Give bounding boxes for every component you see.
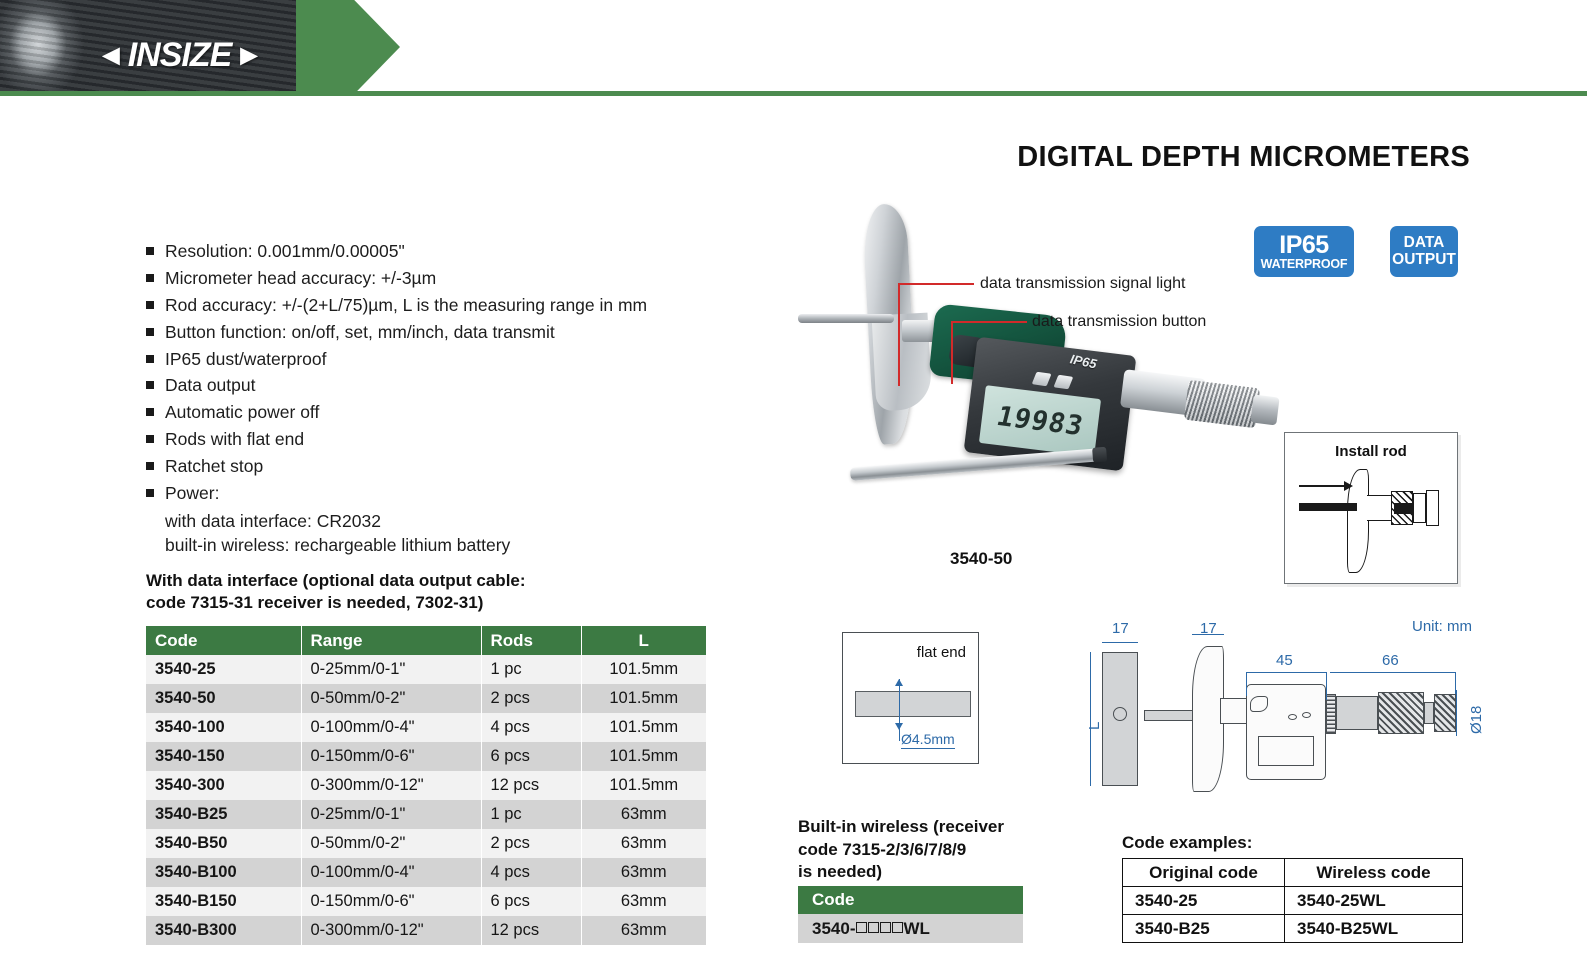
ip65-badge-line1: IP65: [1279, 232, 1328, 258]
main-table-caption: With data interface (optional data outpu…: [146, 570, 706, 615]
install-direction-arrow-icon: [1299, 485, 1345, 487]
install-rod-neck: [1367, 495, 1393, 521]
product-photo: IP65 19983: [782, 196, 1282, 486]
dim-vertical-line: [1090, 652, 1091, 786]
cell-original-code: 3540-B25: [1123, 915, 1285, 943]
spec-text: Micrometer head accuracy: +/-3µm: [165, 267, 436, 289]
spec-subitem: with data interface: CR2032: [165, 509, 766, 534]
code-examples-table: Original code Wireless code 3540-253540-…: [1122, 858, 1463, 943]
drawing-neck-ring: [1424, 702, 1434, 724]
wireless-header-row: Code: [798, 886, 1023, 914]
dimension-drawing: Unit: mm 17 L 17 45 66: [1034, 612, 1474, 787]
table-row: 3540-B250-25mm/0-1"1 pc63mm: [146, 800, 706, 829]
cell-code: 3540-B300: [146, 916, 301, 945]
cell-rods: 1 pc: [481, 655, 581, 684]
wireless-code-suffix: WL: [903, 919, 929, 938]
table-row: 3540-250-25mm/0-1"1 pc101.5mm: [146, 655, 706, 684]
table-header-row: Code Range Rods L: [146, 626, 706, 655]
wireless-caption: Built-in wireless (receiver code 7315-2/…: [798, 816, 1058, 884]
wireless-caption-line2: code 7315-2/3/6/7/8/9: [798, 839, 1058, 862]
drawing-lcd: [1258, 736, 1314, 766]
cell-length: 63mm: [581, 916, 706, 945]
cell-length: 101.5mm: [581, 771, 706, 800]
transmission-button-callout: data transmission button: [1032, 313, 1206, 331]
cell-range: 0-150mm/0-6": [301, 887, 481, 916]
cell-range: 0-50mm/0-2": [301, 829, 481, 858]
table-row: 3540-B500-50mm/0-2"2 pcs63mm: [146, 829, 706, 858]
bullet-square-icon: [146, 328, 154, 336]
cell-rods: 6 pcs: [481, 742, 581, 771]
spec-text: Automatic power off: [165, 401, 319, 423]
cell-rods: 4 pcs: [481, 713, 581, 742]
spec-text: Resolution: 0.001mm/0.00005": [165, 240, 405, 262]
install-rod-bar: [1299, 503, 1357, 511]
side-view-hole: [1113, 707, 1127, 721]
micrometer-thimble[interactable]: [1184, 380, 1260, 428]
cell-range: 0-300mm/0-12": [301, 916, 481, 945]
cell-rods: 2 pcs: [481, 684, 581, 713]
table-row: 3540-1500-150mm/0-6"6 pcs101.5mm: [146, 742, 706, 771]
cell-code: 3540-150: [146, 742, 301, 771]
column-header-wireless-code: Wireless code: [1285, 859, 1463, 887]
cross-rod: [798, 314, 894, 323]
ratchet-stop[interactable]: [1250, 395, 1279, 426]
cell-rods: 1 pc: [481, 800, 581, 829]
cell-code: 3540-B100: [146, 858, 301, 887]
drawing-barrel-knurl: [1326, 694, 1336, 734]
dim-base-width-label: 17: [1112, 620, 1129, 637]
drawing-barrel: [1336, 696, 1378, 730]
dim-vertical-line: [1456, 690, 1457, 736]
dim-66-label: 66: [1382, 652, 1399, 669]
column-header-code: Code: [146, 626, 301, 655]
cell-length: 63mm: [581, 887, 706, 916]
dim-line-45: [1246, 672, 1327, 673]
spec-item: Button function: on/off, set, mm/inch, d…: [146, 321, 766, 343]
dim-tick: [1326, 672, 1327, 700]
cell-range: 0-25mm/0-1": [301, 655, 481, 684]
code-examples-header-row: Original code Wireless code: [1123, 859, 1463, 887]
drawing-ratchet: [1434, 694, 1456, 732]
dim-L-label: L: [1086, 722, 1103, 730]
dimension-arrow-icon: [895, 679, 903, 686]
cell-range: 0-300mm/0-12": [301, 771, 481, 800]
data-badge-line1: DATA: [1404, 235, 1445, 251]
callout-leader-vertical: [898, 283, 900, 386]
cell-range: 0-150mm/0-6": [301, 742, 481, 771]
cell-range: 0-50mm/0-2": [301, 684, 481, 713]
cell-length: 63mm: [581, 800, 706, 829]
cell-range: 0-25mm/0-1": [301, 800, 481, 829]
bullet-square-icon: [146, 381, 154, 389]
cell-wireless-code: 3540-B25WL: [1285, 915, 1463, 943]
column-header-l: L: [581, 626, 706, 655]
main-table-caption-line2: code 7315-31 receiver is needed, 7302-31…: [146, 592, 706, 614]
cell-code: 3540-300: [146, 771, 301, 800]
drawing-rod: [1144, 710, 1196, 721]
code-examples-row: 3540-B253540-B25WL: [1123, 915, 1463, 943]
table-row: 3540-3000-300mm/0-12"12 pcs101.5mm: [146, 771, 706, 800]
callout-leader-horizontal: [898, 283, 974, 285]
spec-text: Rod accuracy: +/-(2+L/75)µm, L is the me…: [165, 294, 647, 316]
product-model-label: 3540-50: [950, 549, 1012, 569]
spec-text: Rods with flat end: [165, 428, 304, 450]
logo-text: INSIZE: [128, 36, 232, 75]
table-row: 3540-500-50mm/0-2"2 pcs101.5mm: [146, 684, 706, 713]
callout-leader-horizontal: [951, 321, 1027, 323]
bullet-square-icon: [146, 489, 154, 497]
drawing-neck: [1220, 698, 1248, 724]
wireless-caption-line1: Built-in wireless (receiver: [798, 816, 1058, 839]
data-output-badge: DATA OUTPUT: [1390, 226, 1458, 277]
page-title: DIGITAL DEPTH MICROMETERS: [1017, 141, 1470, 174]
dim-d18-label: Ø18: [1468, 706, 1485, 734]
dim-tick: [1246, 672, 1247, 696]
placeholder-box-icon: [856, 922, 867, 933]
bullet-square-icon: [146, 435, 154, 443]
insize-logo: ◄ INSIZE ►: [96, 36, 263, 75]
spec-text: Data output: [165, 374, 255, 396]
spec-subitem: built-in wireless: rechargeable lithium …: [165, 533, 766, 558]
header-banner: ◄ INSIZE ►: [0, 0, 1587, 96]
drawing-thimble-knurl: [1378, 692, 1424, 734]
cell-length: 63mm: [581, 858, 706, 887]
placeholder-box-icon: [880, 922, 891, 933]
logo-right-arrow-icon: ►: [234, 41, 263, 71]
main-table-caption-line1: With data interface (optional data outpu…: [146, 570, 706, 592]
specifications-list: Resolution: 0.001mm/0.00005" Micrometer …: [146, 240, 766, 558]
dimension-arrow-icon: [895, 723, 903, 730]
signal-light-callout: data transmission signal light: [980, 275, 1185, 293]
wireless-code-cell: 3540-WL: [798, 914, 1023, 943]
bullet-square-icon: [146, 247, 154, 255]
bullet-square-icon: [146, 355, 154, 363]
install-rod-thread-hatch: [1391, 491, 1413, 525]
function-button-icon: [1032, 372, 1052, 387]
cell-length: 101.5mm: [581, 742, 706, 771]
cell-rods: 4 pcs: [481, 858, 581, 887]
logo-left-arrow-icon: ◄: [96, 41, 125, 71]
spec-item: Data output: [146, 374, 766, 396]
flat-end-diameter-label: Ø4.5mm: [901, 731, 955, 749]
spec-text: Button function: on/off, set, mm/inch, d…: [165, 321, 555, 343]
column-header-range: Range: [301, 626, 481, 655]
install-rod-title: Install rod: [1285, 443, 1457, 460]
cell-length: 101.5mm: [581, 655, 706, 684]
cell-range: 0-100mm/0-4": [301, 713, 481, 742]
placeholder-box-icon: [868, 922, 879, 933]
cell-wireless-code: 3540-25WL: [1285, 887, 1463, 915]
column-header-original-code: Original code: [1123, 859, 1285, 887]
spec-item: Power:: [146, 482, 766, 504]
wireless-code-table: Code 3540-WL: [798, 886, 1023, 943]
bullet-square-icon: [146, 408, 154, 416]
cell-code: 3540-25: [146, 655, 301, 684]
spec-item: Rods with flat end: [146, 428, 766, 450]
cell-code: 3540-50: [146, 684, 301, 713]
bullet-square-icon: [146, 301, 154, 309]
drawing-button: [1302, 712, 1311, 718]
spec-text: Power:: [165, 482, 219, 504]
wireless-caption-line3: is needed): [798, 861, 1058, 884]
cell-rods: 12 pcs: [481, 916, 581, 945]
cell-length: 101.5mm: [581, 713, 706, 742]
cell-original-code: 3540-25: [1123, 887, 1285, 915]
wireless-code-prefix: 3540-: [812, 919, 855, 938]
cell-code: 3540-B150: [146, 887, 301, 916]
cell-code: 3540-B50: [146, 829, 301, 858]
data-badge-line2: OUTPUT: [1392, 252, 1456, 268]
spec-item: Resolution: 0.001mm/0.00005": [146, 240, 766, 262]
install-rod-diagram: Install rod: [1284, 432, 1458, 584]
dim-body-width-label: 17: [1200, 620, 1217, 637]
spec-item: Rod accuracy: +/-(2+L/75)µm, L is the me…: [146, 294, 766, 316]
unit-label: Unit: mm: [1412, 618, 1472, 635]
placeholder-box-icon: [892, 922, 903, 933]
wireless-column-header-code: Code: [798, 886, 1023, 914]
table-row: 3540-1000-100mm/0-4"4 pcs101.5mm: [146, 713, 706, 742]
cell-rods: 12 pcs: [481, 771, 581, 800]
wireless-row: 3540-WL: [798, 914, 1023, 943]
cell-rods: 2 pcs: [481, 829, 581, 858]
cell-range: 0-100mm/0-4": [301, 858, 481, 887]
install-rod-segment: [1413, 493, 1426, 523]
column-header-rods: Rods: [481, 626, 581, 655]
install-rod-segment: [1426, 490, 1439, 526]
table-row: 3540-B1000-100mm/0-4"4 pcs63mm: [146, 858, 706, 887]
spec-item: Micrometer head accuracy: +/-3µm: [146, 267, 766, 289]
dim-extension-line: [1102, 642, 1138, 643]
dim-line-66: [1330, 672, 1456, 673]
cell-code: 3540-100: [146, 713, 301, 742]
spec-text: Ratchet stop: [165, 455, 263, 477]
lcd-reading: 19983: [993, 401, 1086, 442]
cell-length: 101.5mm: [581, 684, 706, 713]
spec-text: IP65 dust/waterproof: [165, 348, 326, 370]
spec-item: IP65 dust/waterproof: [146, 348, 766, 370]
table-row: 3540-B3000-300mm/0-12"12 pcs63mm: [146, 916, 706, 945]
flat-end-rod-shape: [855, 691, 971, 717]
cell-length: 63mm: [581, 829, 706, 858]
flat-end-title: flat end: [917, 644, 966, 661]
cell-rods: 6 pcs: [481, 887, 581, 916]
dim-45-label: 45: [1276, 652, 1293, 669]
cell-code: 3540-B25: [146, 800, 301, 829]
spec-item: Automatic power off: [146, 401, 766, 423]
specification-table: Code Range Rods L 3540-250-25mm/0-1"1 pc…: [146, 626, 706, 945]
table-row: 3540-B1500-150mm/0-6"6 pcs63mm: [146, 887, 706, 916]
drawing-clamp: [1250, 696, 1268, 712]
bullet-square-icon: [146, 274, 154, 282]
drawing-button: [1288, 714, 1297, 720]
banner-green-chevron: [296, 0, 400, 94]
catalog-page: ◄ INSIZE ► DIGITAL DEPTH MICROMETERS IP6…: [0, 0, 1587, 974]
code-examples-row: 3540-253540-25WL: [1123, 887, 1463, 915]
bullet-square-icon: [146, 462, 154, 470]
flat-end-diagram: flat end Ø4.5mm: [842, 632, 979, 764]
callout-leader-vertical: [951, 321, 953, 384]
code-examples-caption: Code examples:: [1122, 833, 1252, 853]
spec-item: Ratchet stop: [146, 455, 766, 477]
banner-green-rule: [0, 91, 1587, 96]
